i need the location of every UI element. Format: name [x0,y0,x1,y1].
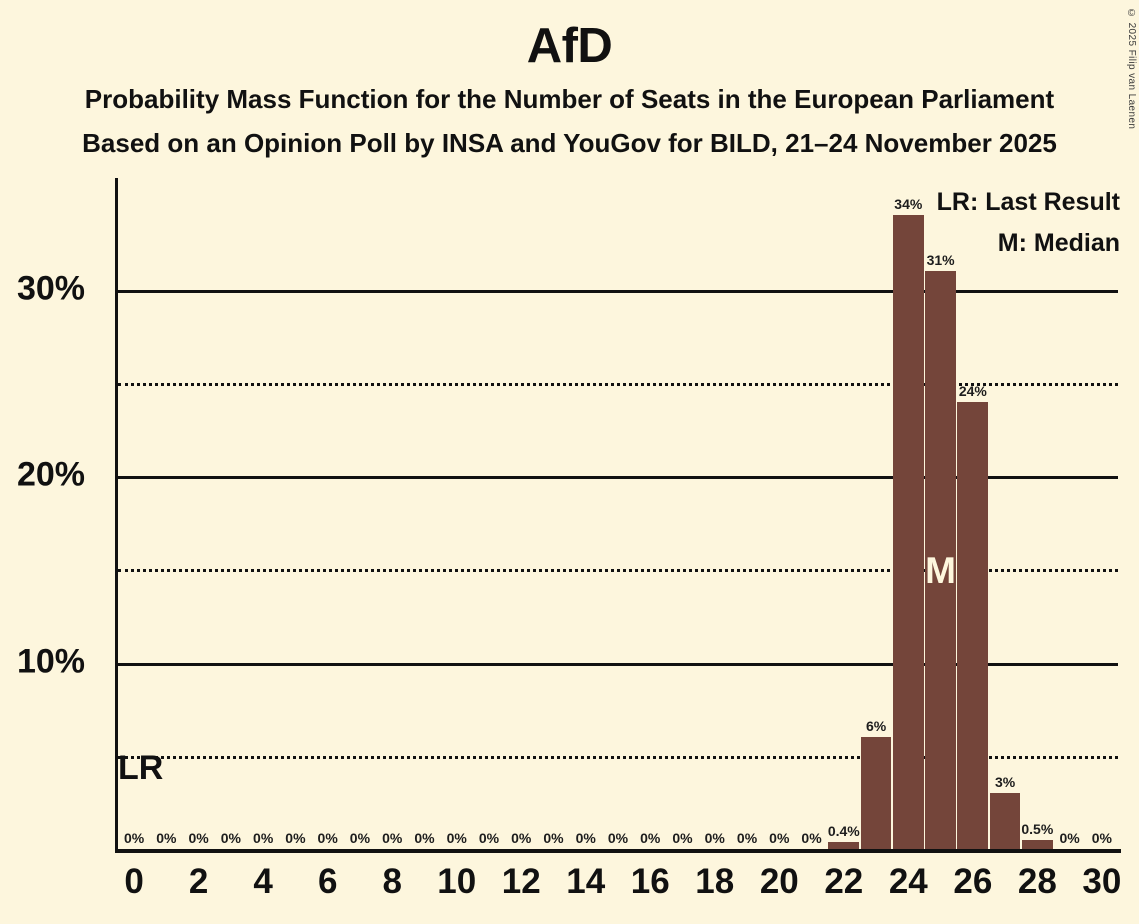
x-tick-label-2: 2 [189,862,208,902]
bar-label-seat-10: 0% [447,830,467,846]
bar-label-seat-30: 0% [1092,830,1112,846]
x-tick-label-0: 0 [124,862,143,902]
x-tick-label-8: 8 [382,862,401,902]
y-tick-label-20: 20% [17,456,85,495]
bar-label-seat-21: 0% [801,830,821,846]
bar-label-seat-6: 0% [318,830,338,846]
bar-label-seat-29: 0% [1059,830,1079,846]
chart-subtitle: Probability Mass Function for the Number… [0,82,1139,116]
bar-label-seat-9: 0% [414,830,434,846]
bar-label-seat-11: 0% [479,830,499,846]
gridline-major-30 [118,290,1118,293]
bar-label-seat-1: 0% [156,830,176,846]
y-tick-label-30: 30% [17,270,85,309]
bar-label-seat-16: 0% [640,830,660,846]
last-result-marker: LR [118,749,163,788]
bar-label-seat-15: 0% [608,830,628,846]
bar-label-seat-4: 0% [253,830,273,846]
bar-label-seat-25: 31% [927,252,955,268]
bar-label-seat-13: 0% [543,830,563,846]
bar-seat-22 [828,842,859,849]
x-tick-label-4: 4 [253,862,272,902]
x-tick-label-26: 26 [953,862,992,902]
x-tick-label-12: 12 [502,862,541,902]
bar-label-seat-28: 0.5% [1021,821,1053,837]
bar-label-seat-23: 6% [866,718,886,734]
bar-label-seat-14: 0% [576,830,596,846]
bar-label-seat-26: 24% [959,383,987,399]
bar-label-seat-17: 0% [672,830,692,846]
x-tick-label-6: 6 [318,862,337,902]
x-tick-label-30: 30 [1082,862,1121,902]
x-tick-label-28: 28 [1018,862,1057,902]
bar-label-seat-12: 0% [511,830,531,846]
bar-label-seat-18: 0% [705,830,725,846]
y-tick-label-10: 10% [17,642,85,681]
x-tick-label-22: 22 [824,862,863,902]
plot-area: 10%20%30% 0%0%0%0%0%0%0%0%0%0%0%0%0%0%0%… [118,178,1118,849]
pmf-chart: AfD Probability Mass Function for the Nu… [0,0,1139,924]
bar-label-seat-7: 0% [350,830,370,846]
copyright-notice: © 2025 Filip van Laenen [1126,8,1137,129]
bar-label-seat-0: 0% [124,830,144,846]
bar-seat-28 [1022,840,1053,849]
x-tick-label-16: 16 [631,862,670,902]
x-tick-label-10: 10 [437,862,476,902]
x-tick-label-20: 20 [760,862,799,902]
bar-seat-24 [893,215,924,849]
x-tick-label-18: 18 [695,862,734,902]
bar-label-seat-2: 0% [189,830,209,846]
bar-label-seat-3: 0% [221,830,241,846]
page-title: AfD [0,18,1139,74]
x-tick-label-14: 14 [566,862,605,902]
bar-seat-27 [990,793,1021,849]
bar-label-seat-22: 0.4% [828,823,860,839]
bar-seat-26 [957,402,988,849]
chart-header: AfD Probability Mass Function for the Nu… [0,0,1139,160]
bar-seat-23 [861,737,892,849]
bar-label-seat-8: 0% [382,830,402,846]
bar-label-seat-20: 0% [769,830,789,846]
x-axis-line [115,849,1121,853]
bar-label-seat-5: 0% [285,830,305,846]
bar-label-seat-19: 0% [737,830,757,846]
median-marker: M [925,550,956,592]
x-tick-label-24: 24 [889,862,928,902]
bar-label-seat-24: 34% [894,196,922,212]
chart-source-subtitle: Based on an Opinion Poll by INSA and You… [0,126,1139,160]
bar-label-seat-27: 3% [995,774,1015,790]
